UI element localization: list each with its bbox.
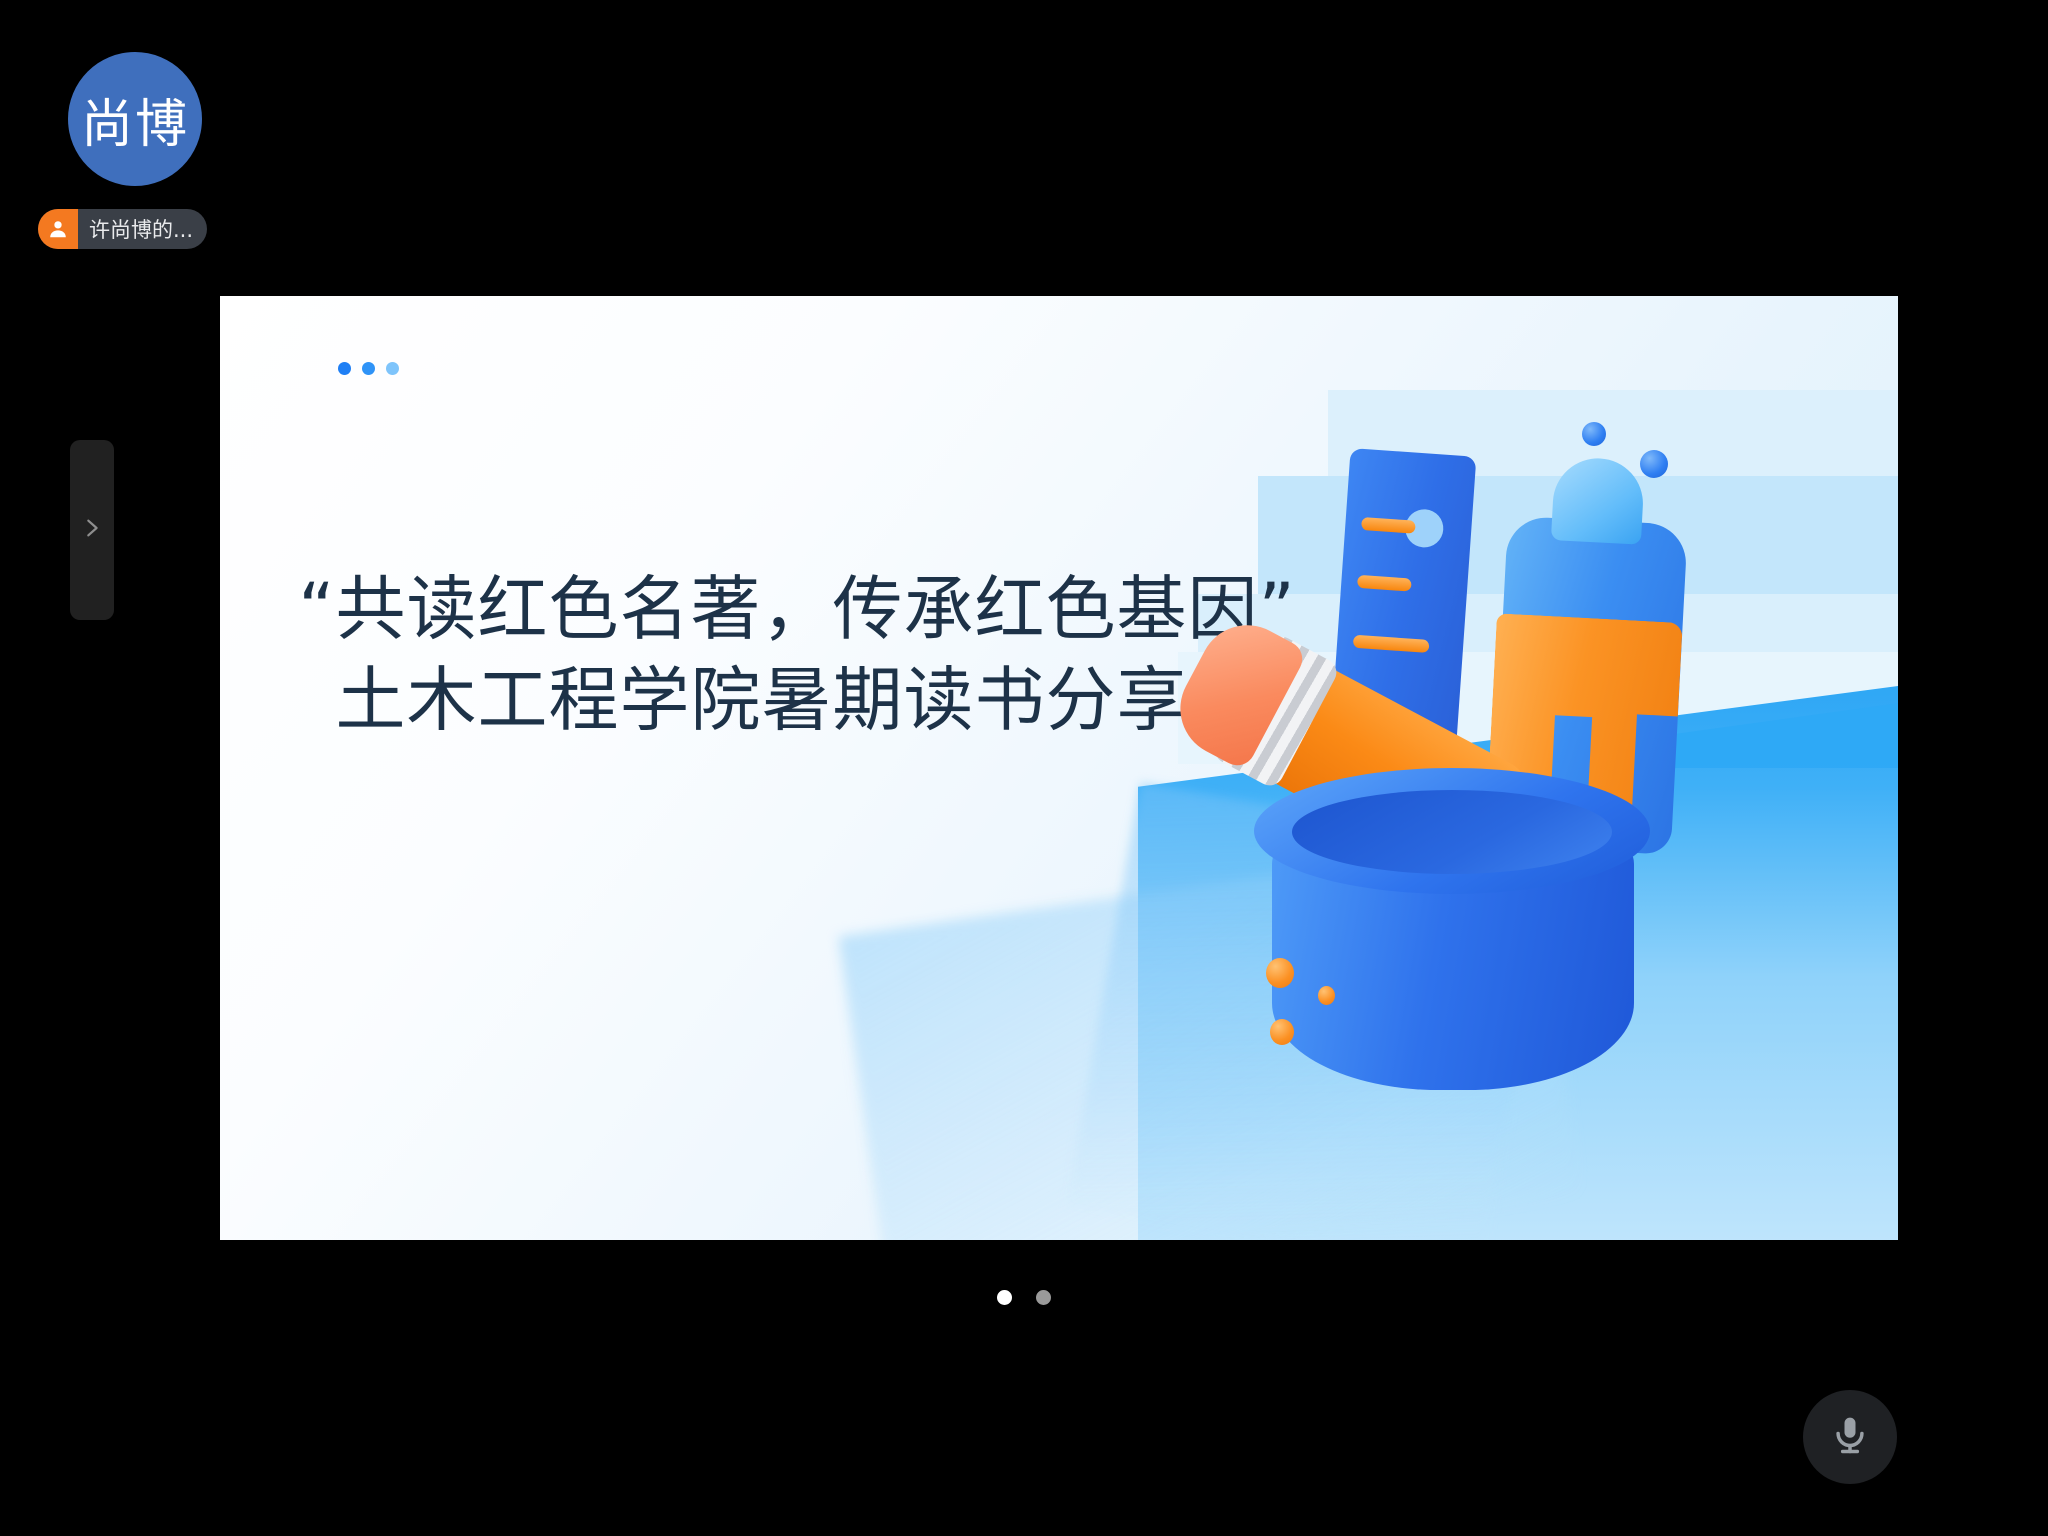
orange-sphere-2	[1318, 986, 1335, 1005]
microphone-icon	[1828, 1413, 1872, 1462]
slide-pagination[interactable]	[0, 1290, 2048, 1305]
avatar-initials: 尚博	[81, 82, 189, 157]
bottle-cap	[1551, 456, 1645, 545]
decorative-dot-3	[386, 362, 399, 375]
chevron-right-icon	[81, 513, 103, 548]
participant-avatar[interactable]: 尚博	[68, 52, 202, 186]
slide-title-line-1: “共读红色名著，传承红色基因”	[242, 564, 1352, 655]
orange-sphere-1	[1266, 958, 1294, 988]
participant-name-label: 许尚博的...	[78, 214, 207, 244]
decorative-dot-2	[362, 362, 375, 375]
ruler-tick-3	[1353, 635, 1430, 653]
pen-cup-icon	[1254, 768, 1650, 1098]
microphone-button[interactable]	[1803, 1390, 1897, 1484]
shared-slide[interactable]: “共读红色名著，传承红色基因” 土木工程学院暑期读书分享会	[220, 296, 1898, 1240]
pagination-dot-2[interactable]	[1036, 1290, 1051, 1305]
cup-rim-inner	[1292, 790, 1612, 874]
pagination-dot-1[interactable]	[997, 1290, 1012, 1305]
ruler-tick-2	[1357, 575, 1412, 592]
decorative-dot-1	[338, 362, 351, 375]
orange-sphere-3	[1270, 1019, 1294, 1045]
panel-expand-handle[interactable]	[70, 440, 114, 620]
ruler-tick-1	[1361, 517, 1416, 534]
person-icon	[38, 209, 78, 249]
blue-sphere-1	[1582, 422, 1606, 446]
decorative-dots	[338, 362, 399, 375]
stationery-illustration	[1188, 358, 1808, 1158]
participant-name-badge[interactable]: 许尚博的...	[38, 209, 207, 249]
screen-root: 尚博 许尚博的...	[0, 0, 2048, 1536]
